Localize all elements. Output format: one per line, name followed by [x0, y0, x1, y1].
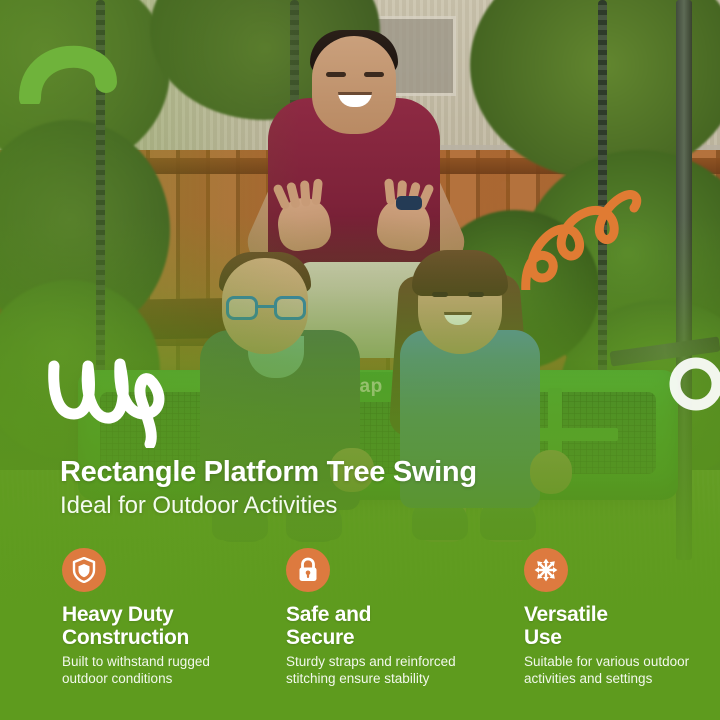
man-finger	[300, 180, 311, 207]
feature-list: Heavy Duty Construction Built to withsta…	[0, 548, 720, 708]
arrows-expand-icon	[524, 548, 568, 592]
swing-support-pole	[676, 0, 692, 560]
feature-item-versatile-use: Versatile Use Suitable for various outdo…	[480, 548, 720, 708]
man-wristwatch	[396, 196, 422, 210]
girl-hair-top	[412, 250, 508, 296]
feature-title: Safe and Secure	[286, 604, 480, 649]
boy-glasses	[226, 296, 306, 320]
feature-item-heavy-duty: Heavy Duty Construction Built to withsta…	[0, 548, 240, 708]
product-poster: obap	[0, 0, 720, 720]
glasses-lens-right	[274, 296, 306, 320]
swing-rope-left	[96, 0, 105, 380]
feature-desc: Sturdy straps and reinforced stitching e…	[286, 654, 480, 688]
man-eye-left	[326, 72, 346, 77]
swing-rope-right	[598, 0, 607, 375]
page-subtitle: Ideal for Outdoor Activities	[60, 492, 337, 520]
page-title: Rectangle Platform Tree Swing	[60, 456, 477, 489]
girl-eye-right	[468, 292, 484, 297]
feature-title: Versatile Use	[524, 604, 720, 649]
man-eye-right	[364, 72, 384, 77]
feature-title: Heavy Duty Construction	[62, 604, 240, 649]
girl-eye-left	[432, 292, 448, 297]
girl-hand	[530, 450, 572, 494]
feature-desc: Suitable for various outdoor activities …	[524, 654, 720, 688]
lock-icon	[286, 548, 330, 592]
glasses-bridge	[258, 305, 274, 308]
feature-desc: Built to withstand rugged outdoor condit…	[62, 654, 240, 688]
shield-icon	[62, 548, 106, 592]
feature-item-safe-secure: Safe and Secure Sturdy straps and reinfo…	[240, 548, 480, 708]
man-head	[312, 36, 396, 134]
glasses-lens-left	[226, 296, 258, 320]
